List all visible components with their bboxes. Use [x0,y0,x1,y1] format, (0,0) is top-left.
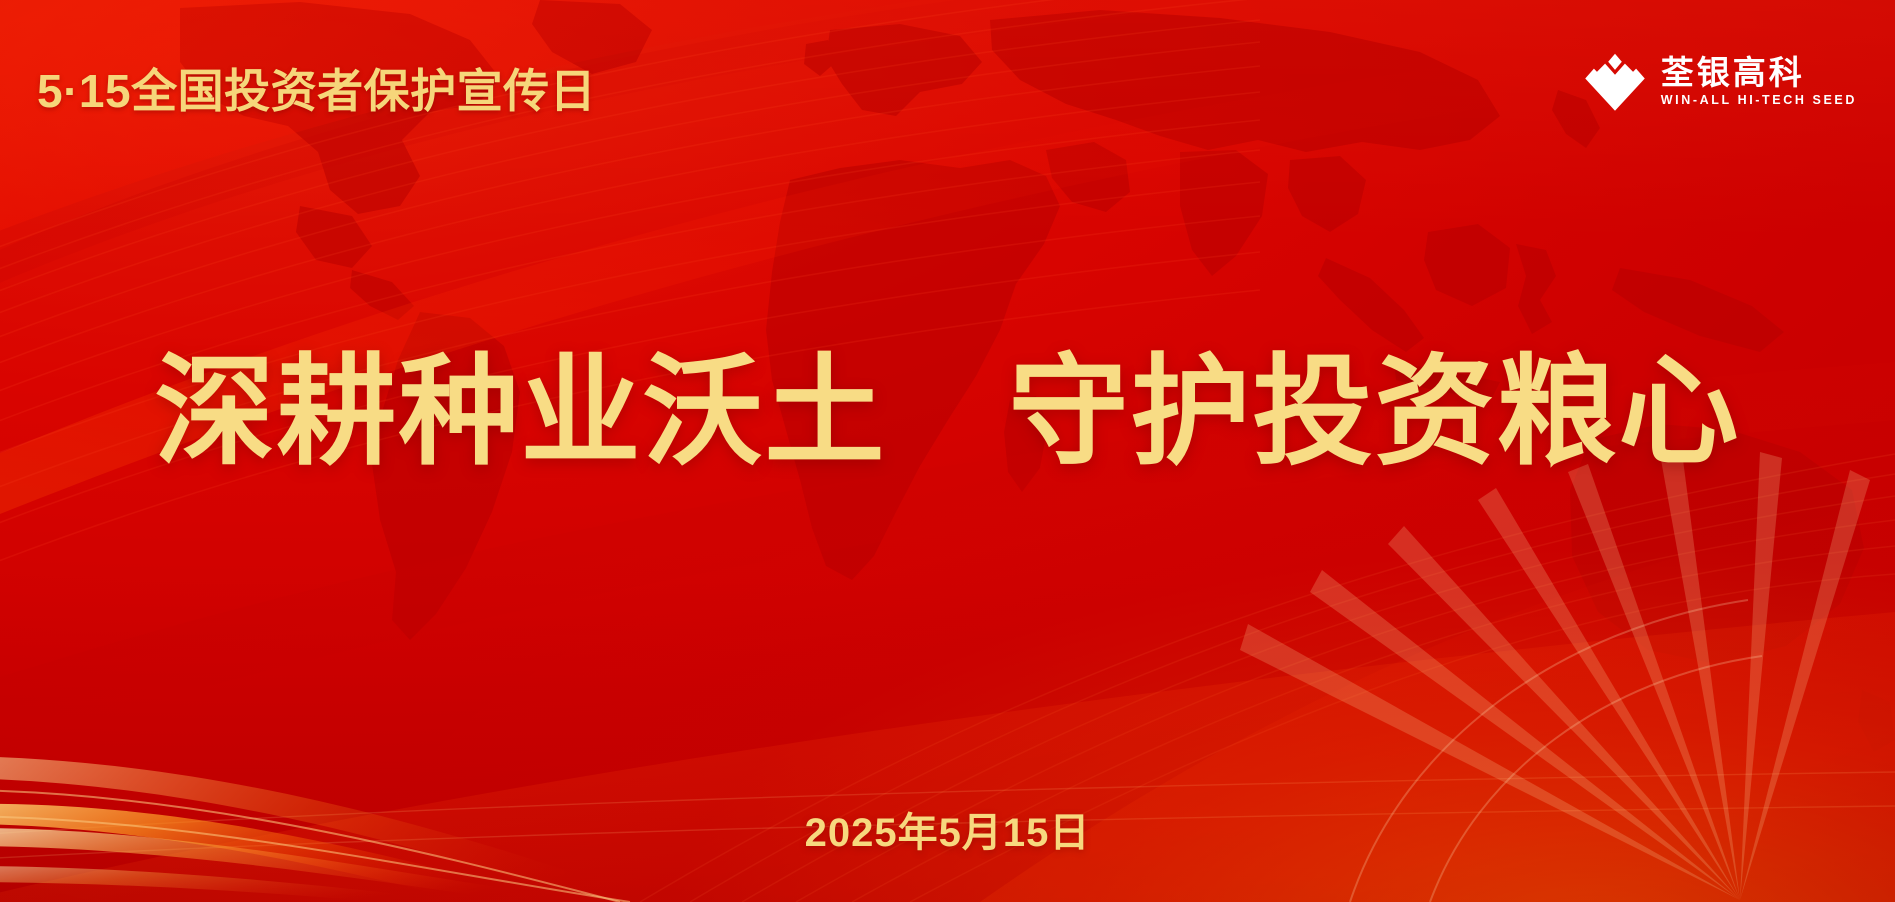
investor-protection-banner: 5·15全国投资者保护宣传日 荃银高科 WIN-ALL HI-TECH SEE [0,0,1895,902]
brand-name-cn: 荃银高科 [1661,55,1805,91]
brand-logo: 荃银高科 WIN-ALL HI-TECH SEED [1584,50,1857,112]
banner-content: 5·15全国投资者保护宣传日 荃银高科 WIN-ALL HI-TECH SEE [0,0,1895,902]
brand-name-en: WIN-ALL HI-TECH SEED [1661,93,1857,107]
double-chevron-diamond-icon [1584,50,1646,112]
event-date: 2025年5月15日 [0,800,1895,858]
main-headline: 深耕种业沃土 守护投资粮心 [0,345,1895,479]
event-title: 5·15全国投资者保护宣传日 [37,55,596,121]
brand-text-block: 荃银高科 WIN-ALL HI-TECH SEED [1661,55,1857,108]
